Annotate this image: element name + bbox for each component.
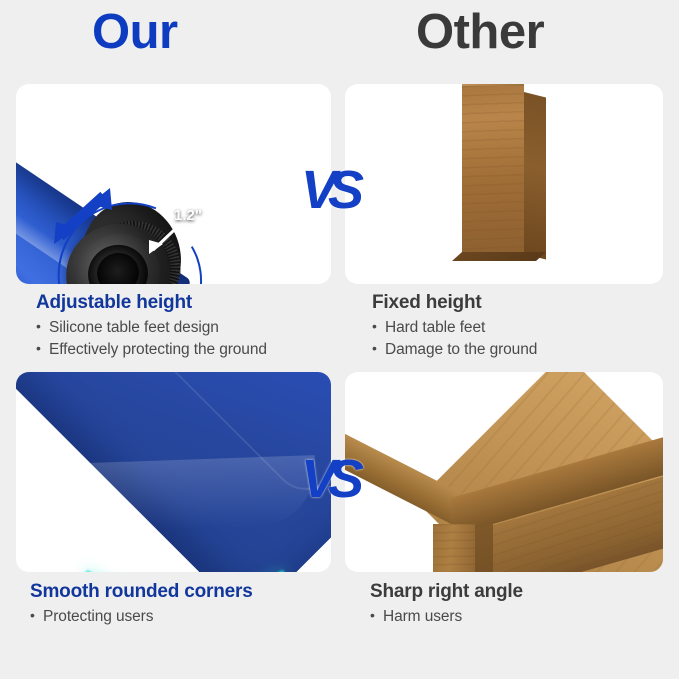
caption-ours-adjustable-height: Adjustable height Silicone table feet de… <box>36 292 336 362</box>
comparison-infographic: Our Other <box>0 0 679 679</box>
card-other-sharp-angle <box>345 372 663 572</box>
caption-other-sharp-angle: Sharp right angle Harm users <box>370 581 660 630</box>
caption-ours-rounded-corners: Smooth rounded corners Protecting users <box>30 581 330 630</box>
vs-badge-top: VS <box>301 163 355 217</box>
wooden-leg-grain <box>462 86 524 254</box>
bullet-item: Hard table feet <box>372 319 662 337</box>
dimension-label: 1.2" <box>174 207 202 224</box>
height-adjust-arrow-icon <box>38 180 128 258</box>
bullet-item: Protecting users <box>30 608 330 626</box>
bullet-item: Damage to the ground <box>372 341 662 359</box>
caption-title: Sharp right angle <box>370 581 660 603</box>
header-ours: Our <box>92 8 178 57</box>
caption-bullet-list: Harm users <box>370 608 660 626</box>
caption-title: Smooth rounded corners <box>30 581 330 603</box>
card-ours-adjustable-height: 1.2" <box>16 84 331 284</box>
header-other: Other <box>416 8 544 57</box>
caption-title: Fixed height <box>372 292 662 314</box>
caption-bullet-list: Hard table feet Damage to the ground <box>372 319 662 359</box>
wooden-leg-bottom-shadow <box>452 252 546 261</box>
wooden-leg-side-face <box>524 92 546 259</box>
caption-other-fixed-height: Fixed height Hard table feet Damage to t… <box>372 292 662 362</box>
card-other-fixed-height <box>345 84 663 284</box>
tabletop-edge-left <box>345 402 459 528</box>
caption-bullet-list: Silicone table feet design Effectively p… <box>36 319 336 359</box>
card-ours-rounded-corners <box>16 372 331 572</box>
bullet-item: Effectively protecting the ground <box>36 341 336 359</box>
illustration-adjustable-leg: 1.2" <box>16 84 331 284</box>
vs-badge-bottom: VS <box>301 452 355 506</box>
table-leg-grain <box>433 524 475 572</box>
bullet-item: Harm users <box>370 608 660 626</box>
caption-bullet-list: Protecting users <box>30 608 330 626</box>
table-leg-side-face <box>475 523 493 572</box>
caption-title: Adjustable height <box>36 292 336 314</box>
bullet-item: Silicone table feet design <box>36 319 336 337</box>
